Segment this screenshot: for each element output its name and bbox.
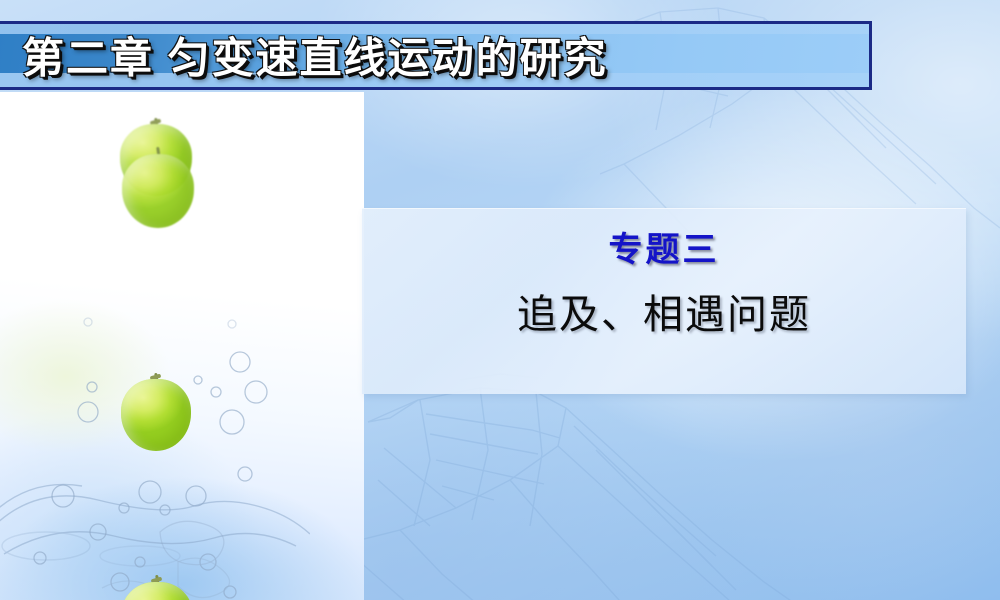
apple-middle: [121, 379, 191, 451]
topic-subtitle: 追及、相遇问题: [362, 282, 966, 340]
presentation-slide: 第二章 匀变速直线运动的研究: [0, 0, 1000, 600]
apple-bottom: [121, 582, 193, 600]
apple-body: [122, 154, 194, 228]
topic-label: 专题三: [362, 222, 966, 271]
apple-body: [121, 582, 193, 600]
page-title: 第二章 匀变速直线运动的研究: [22, 24, 608, 85]
slide-title-banner: 第二章 匀变速直线运动的研究: [0, 21, 872, 90]
apple-body: [121, 379, 191, 451]
content-text-box: 专题三 追及、相遇问题: [362, 208, 966, 394]
apple-motion-blur-second: [122, 154, 194, 228]
falling-green-apples-photo: [0, 92, 364, 600]
